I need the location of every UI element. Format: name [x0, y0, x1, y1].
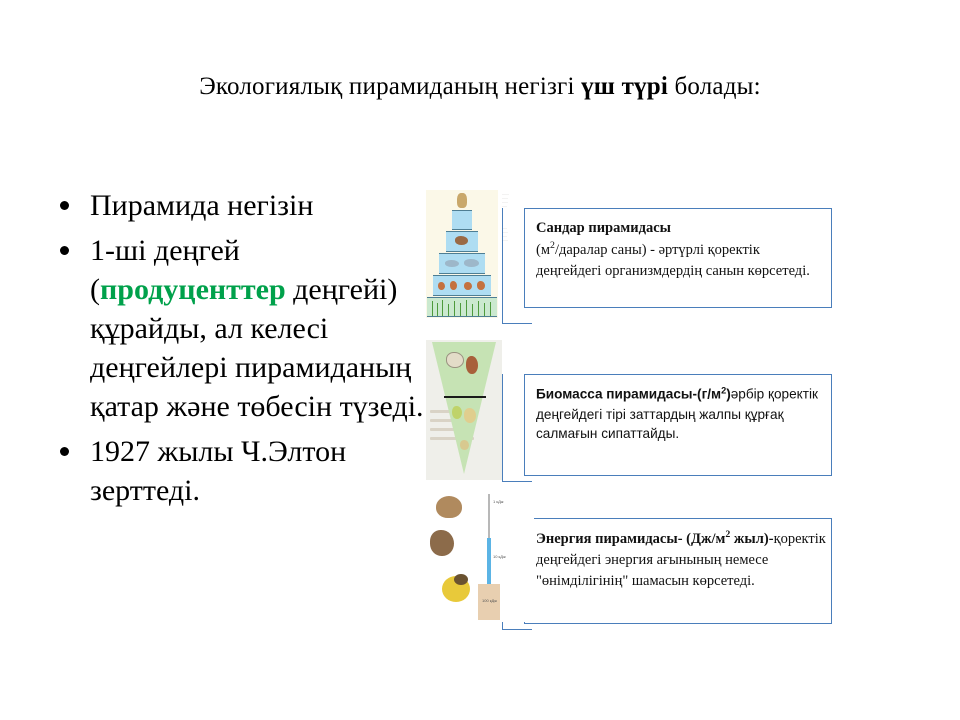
pyramid-type-numbers: ························ ···············…: [424, 186, 844, 332]
pyramid-type-biomass: Биомасса пирамидасы-(г/м2)әрбір қоректік…: [424, 338, 844, 486]
bullet-list: Пирамида негізін 1-ші деңгей (продуцентт…: [52, 186, 452, 512]
trophic-level-5: [452, 210, 472, 230]
seed-icon: [464, 408, 476, 423]
info-box-numbers-text: Сандар пирамидасы (м2/даралар саны) - әр…: [536, 218, 826, 283]
fish-icon: [464, 259, 479, 267]
energy-bar-middle-segment: [487, 538, 491, 586]
page-title-text-before: Экологиялық пирамиданың негізгі: [199, 73, 581, 100]
figure-microlabel: ······················: [502, 226, 508, 242]
invertebrate-icon: [438, 282, 445, 290]
page-title-emphasis: үш түрі: [581, 73, 668, 100]
energy-pyramid-image: 1 кДж 10 кДж 100 кДж: [426, 492, 534, 622]
bullet-dot-icon: [60, 246, 69, 255]
list-item: 1927 жылы Ч.Элтон зерттеді.: [52, 432, 452, 510]
fish-icon: [445, 260, 459, 267]
trophic-level-4: [446, 231, 478, 252]
info-box-energy-text: Энергия пирамидасы- (Дж/м2 жыл)-қоректік…: [536, 528, 828, 593]
list-item: Пирамида негізін: [52, 186, 452, 225]
invertebrate-icon: [450, 281, 457, 290]
bullet-dot-icon: [60, 447, 69, 456]
insect-icon: [446, 352, 464, 368]
inverted-triangle-shape: [432, 342, 496, 474]
energy-tick-label-3: 100 кДж: [482, 598, 497, 603]
list-item: 1-ші деңгей (продуценттер деңгейі) құрай…: [52, 231, 452, 426]
page-title-text-after: болады:: [668, 73, 761, 100]
invertebrate-icon: [464, 282, 472, 290]
pyramid-type-heading: Сандар пирамидасы: [536, 220, 671, 236]
pyramid-type-energy: 1 кДж 10 кДж 100 кДж Энергия пирамидасы-…: [424, 490, 844, 634]
page-title: Экологиялық пирамиданың негізгі үш түрі …: [0, 72, 960, 102]
pyramid-type-heading-b: жыл)-: [730, 531, 773, 547]
bird-icon: [455, 236, 468, 245]
mouse-icon: [430, 530, 454, 556]
pyramid-type-heading-a: Биомасса пирамидасы-(г/м: [536, 387, 721, 402]
apex-predator-icon: [457, 193, 467, 208]
energy-tick-label-2: 10 кДж: [493, 554, 506, 559]
list-item-lead: 1-ші деңгей: [90, 234, 240, 267]
info-box-biomass-text: Биомасса пирамидасы-(г/м2)әрбір қоректік…: [536, 384, 828, 444]
energy-tick-label-1: 1 кДж: [493, 499, 503, 504]
trophic-level-2: [433, 275, 491, 296]
trophic-level-3: [439, 253, 485, 274]
numbers-pyramid-image: [426, 190, 498, 318]
invertebrate-icon: [477, 281, 485, 290]
biomass-inverted-pyramid-image: [426, 340, 502, 480]
figure-microlabel: ························: [502, 192, 509, 208]
trophic-divider-line: [444, 396, 486, 398]
pyramid-type-heading-a: Энергия пирамидасы- (Дж/м: [536, 531, 725, 547]
larva-icon: [452, 406, 462, 419]
list-item-label: Пирамида негізін: [90, 189, 313, 222]
producers-term: продуценттер: [100, 273, 286, 306]
trophic-level-1-producers: [427, 297, 497, 317]
bee-icon: [454, 574, 468, 585]
ant-icon: [466, 356, 478, 374]
pyramid-type-body-b: /даралар саны) - әртүрлі қоректік деңгей…: [536, 242, 810, 279]
paren-open: (: [90, 273, 100, 306]
pyramid-type-body-a: (м: [536, 242, 550, 258]
bullet-dot-icon: [60, 201, 69, 210]
list-item-label: 1927 жылы Ч.Элтон зерттеді.: [90, 435, 346, 507]
pyramid-types-panel: ························ ···············…: [424, 186, 844, 634]
owl-icon: [436, 496, 462, 518]
spore-icon: [460, 440, 469, 450]
